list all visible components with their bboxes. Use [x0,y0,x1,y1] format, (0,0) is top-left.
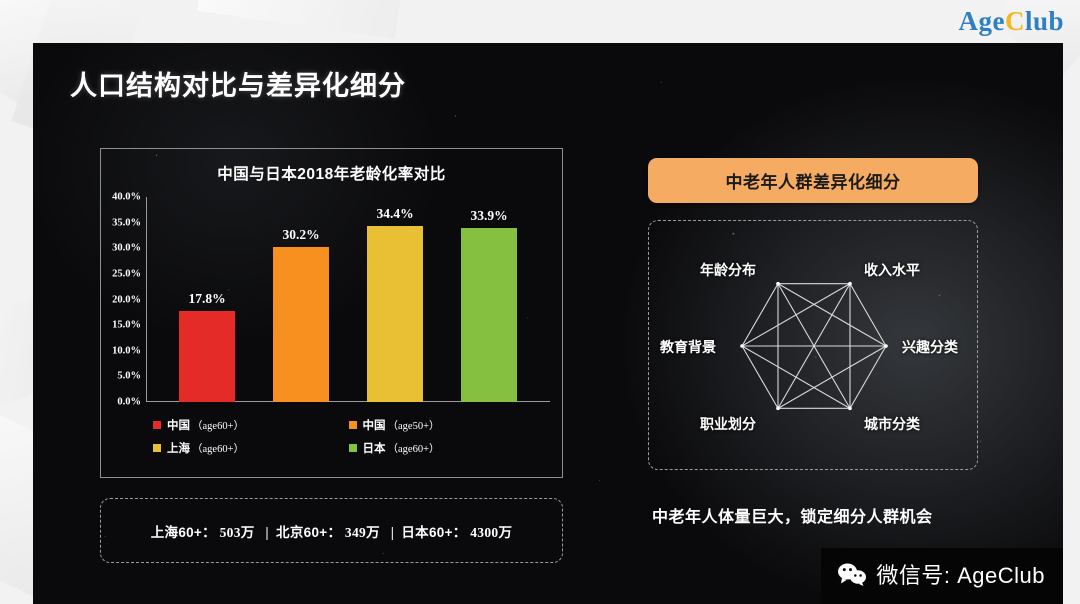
y-axis-tick: 40.0% [112,192,141,203]
hexagon-node [848,282,852,286]
bar-item: 33.9% [461,197,517,402]
stats-separator: | [265,525,269,540]
segmentation-node-label: 教育背景 [660,337,716,357]
legend-sublabel: （age60+） [192,441,244,456]
segmentation-node-label: 年龄分布 [700,260,756,280]
page-title: 人口结构对比与差异化细分 [70,64,406,103]
stats-value: 4300万 [467,525,513,540]
bar-value-label: 34.4% [376,206,413,222]
legend-swatch [349,421,357,429]
y-axis-tick: 15.0% [112,320,141,331]
segmentation-node-label: 城市分类 [864,414,920,434]
legend-swatch [153,421,161,429]
hexagon-node [740,344,744,348]
y-axis-tick: 0.0% [117,397,141,408]
legend-item: 上海（age60+） [153,440,349,456]
stats-value: 503万 [216,525,258,540]
legend-label: 中国 [167,417,190,433]
legend-swatch [153,444,161,452]
hexagon-edge [742,284,850,346]
segmentation-node-label: 收入水平 [864,260,920,280]
segmentation-diagram-box: 年龄分布收入水平兴趣分类城市分类职业划分教育背景 [648,220,978,470]
legend-item: 中国（age50+） [349,417,545,433]
bar [367,226,423,402]
legend-label: 日本 [363,440,386,456]
population-stats-text: 上海60+： 503万 |北京60+： 349万 |日本60+： 4300万 [151,521,513,541]
chart-panel: 中国与日本2018年老龄化率对比 40.0%35.0%30.0%25.0%20.… [100,148,563,478]
y-axis-tick: 20.0% [112,294,141,305]
stats-separator: | [391,525,395,540]
segmentation-header-label: 中老年人群差异化细分 [726,168,901,193]
slide-canvas: 人口结构对比与差异化细分 中国与日本2018年老龄化率对比 40.0%35.0%… [33,43,1063,604]
backdrop-facet [197,0,403,39]
bar-item: 34.4% [367,197,423,402]
bar-value-label: 17.8% [188,291,225,307]
stats-label: 上海60+： [151,525,216,540]
wechat-id-text: 微信号: AgeClub [876,558,1045,590]
wechat-icon [837,562,867,586]
y-axis-tick: 5.0% [117,371,141,382]
chart-legend: 中国（age60+）中国（age50+）上海（age60+）日本（age60+） [153,417,544,463]
hexagon-node [776,282,780,286]
logo-text-suffix: lub [1025,6,1064,36]
hexagon-node [848,407,852,411]
bar-series: 17.8%30.2%34.4%33.9% [146,197,550,402]
ageclub-logo: AgeClub [958,8,1064,35]
hexagon-edge [850,284,886,346]
legend-item: 中国（age60+） [153,417,349,433]
population-stats-box: 上海60+： 503万 |北京60+： 349万 |日本60+： 4300万 [100,498,563,563]
legend-label: 上海 [167,440,190,456]
wechat-footer: 微信号: AgeClub [821,548,1063,604]
logo-text-primary: Age [958,6,1004,36]
stats-label: 北京60+： [276,525,341,540]
segmentation-node-label: 职业划分 [700,414,756,434]
logo-text-accent: C [1005,6,1025,36]
bar [179,311,235,402]
bar [273,247,329,402]
legend-sublabel: （age50+） [388,418,440,433]
hexagon-edge [850,346,886,408]
hexagon-edge [778,346,886,408]
hexagon-edge [742,284,778,346]
y-axis-tick: 10.0% [112,345,141,356]
chart-title: 中国与日本2018年老龄化率对比 [101,162,562,184]
y-axis-tick: 25.0% [112,268,141,279]
stats-value: 349万 [341,525,383,540]
bar-value-label: 33.9% [470,208,507,224]
bar-item: 30.2% [273,197,329,402]
legend-item: 日本（age60+） [349,440,545,456]
hexagon-edge [742,346,778,408]
segmentation-node-label: 兴趣分类 [902,337,958,357]
legend-sublabel: （age60+） [388,441,440,456]
hexagon-edge [742,346,850,408]
bar-item: 17.8% [179,197,235,402]
chart-plot-area: 40.0%35.0%30.0%25.0%20.0%15.0%10.0%5.0%0… [146,197,550,402]
stats-label: 日本60+： [401,525,466,540]
bar [461,228,517,402]
y-axis-tick: 30.0% [112,243,141,254]
legend-swatch [349,444,357,452]
legend-sublabel: （age60+） [192,418,244,433]
segmentation-tagline: 中老年人体量巨大，锁定细分人群机会 [652,503,933,527]
hexagon-node [776,407,780,411]
bar-value-label: 30.2% [282,227,319,243]
segmentation-header-pill: 中老年人群差异化细分 [648,158,978,203]
y-axis: 40.0%35.0%30.0%25.0%20.0%15.0%10.0%5.0%0… [102,197,144,402]
hexagon-node [884,344,888,348]
legend-label: 中国 [363,417,386,433]
y-axis-tick: 35.0% [112,217,141,228]
